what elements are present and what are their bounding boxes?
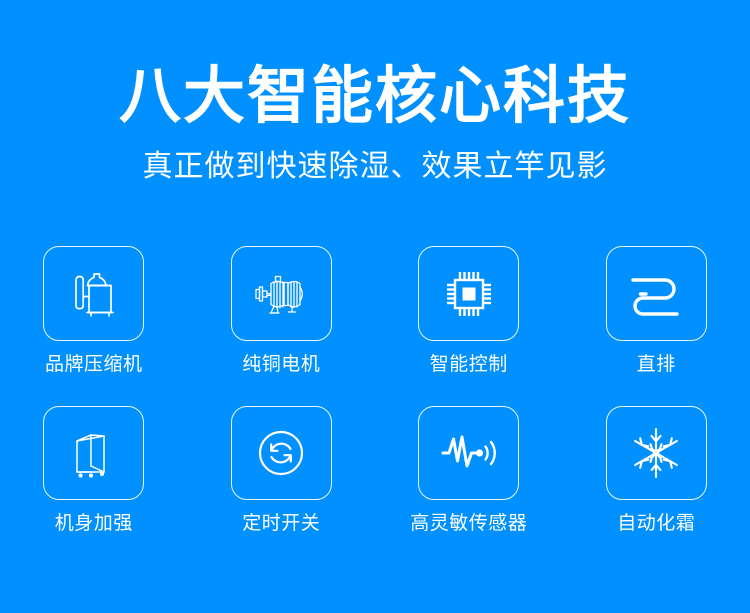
icon-card (418, 406, 519, 500)
feature-item-direct-drain[interactable]: 直排 (563, 246, 750, 406)
drain-hose-icon (625, 269, 687, 319)
feature-label: 机身加强 (55, 511, 133, 535)
feature-label: 自动化霜 (617, 511, 695, 535)
icon-card (43, 246, 144, 341)
promo-poster: 八大智能核心科技 真正做到快速除湿、效果立竿见影 (0, 0, 750, 613)
timer-cycle-icon (253, 425, 309, 481)
feature-item-motor[interactable]: 纯铜电机 (188, 246, 376, 406)
feature-label: 纯铜电机 (242, 352, 320, 376)
feature-item-reinforced-body[interactable]: 机身加强 (0, 406, 188, 566)
feature-item-sensor[interactable]: 高灵敏传感器 (375, 406, 563, 566)
icon-card (606, 406, 707, 500)
compressor-icon (63, 265, 125, 323)
feature-item-compressor[interactable]: 品牌压缩机 (0, 246, 188, 406)
feature-label: 定时开关 (242, 511, 320, 535)
snowflake-icon (627, 424, 685, 482)
feature-label: 智能控制 (430, 352, 508, 376)
icon-card (231, 406, 332, 500)
icon-card (231, 246, 332, 341)
page-subtitle: 真正做到快速除湿、效果立竿见影 (0, 148, 750, 186)
feature-item-timer-switch[interactable]: 定时开关 (188, 406, 376, 566)
feature-label: 直排 (637, 352, 676, 376)
feature-item-smart-control[interactable]: 智能控制 (375, 246, 563, 406)
motor-icon (250, 265, 312, 323)
reinforced-cabinet-icon (66, 424, 122, 482)
page-title: 八大智能核心科技 (0, 58, 750, 134)
sensor-waveform-icon (438, 427, 500, 479)
icon-card (606, 246, 707, 341)
heading-block: 八大智能核心科技 真正做到快速除湿、效果立竿见影 (0, 58, 750, 186)
feature-item-auto-defrost[interactable]: 自动化霜 (563, 406, 750, 566)
cpu-chip-icon (440, 265, 498, 323)
feature-grid: 品牌压缩机 (0, 246, 750, 566)
icon-card (43, 406, 144, 500)
feature-label: 品牌压缩机 (45, 352, 143, 376)
feature-label: 高灵敏传感器 (410, 511, 527, 535)
icon-card (418, 246, 519, 341)
